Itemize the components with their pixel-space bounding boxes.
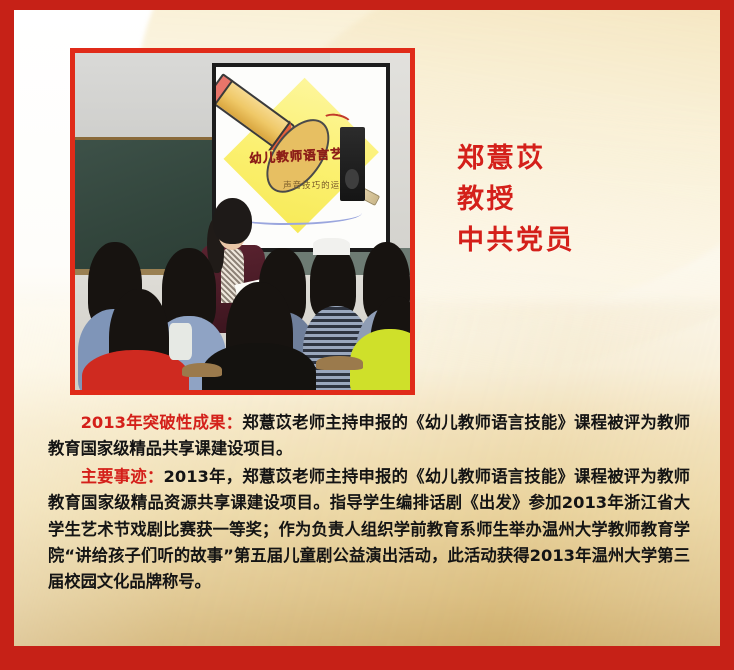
profile-title: 教授 (457, 179, 575, 220)
profile-name: 郑薏苡 (457, 138, 575, 179)
student-headband (313, 238, 350, 255)
achievement-separator: ： (226, 413, 243, 432)
poster-root: 幼儿教师语言艺术 声音技巧的运用 (0, 0, 734, 670)
desk-edge (182, 363, 222, 376)
paragraph-deeds: 主要事迹：2013年，郑薏苡老师主持申报的《幼儿教师语言技能》课程被评为教师教育… (48, 464, 690, 596)
photo-frame: 幼儿教师语言艺术 声音技巧的运用 (70, 48, 415, 395)
achievement-label: 2013年突破性成果 (81, 413, 226, 432)
desk-edge (316, 356, 363, 369)
paragraph-achievement: 2013年突破性成果：郑薏苡老师主持申报的《幼儿教师语言技能》课程被评为教师教育… (48, 410, 690, 463)
wall-speaker-icon (340, 127, 365, 201)
poster-panel: 幼儿教师语言艺术 声音技巧的运用 (14, 10, 720, 646)
classroom-photo: 幼儿教师语言艺术 声音技巧的运用 (75, 53, 410, 390)
water-bottle (169, 323, 192, 360)
teacher-hair (213, 198, 251, 244)
deeds-label: 主要事迹 (81, 467, 147, 486)
deeds-separator: ： (147, 467, 164, 486)
profile-affiliation: 中共党员 (457, 220, 575, 261)
profile-block: 郑薏苡 教授 中共党员 (457, 138, 575, 261)
body-text: 2013年突破性成果：郑薏苡老师主持申报的《幼儿教师语言技能》课程被评为教师教育… (48, 410, 690, 597)
